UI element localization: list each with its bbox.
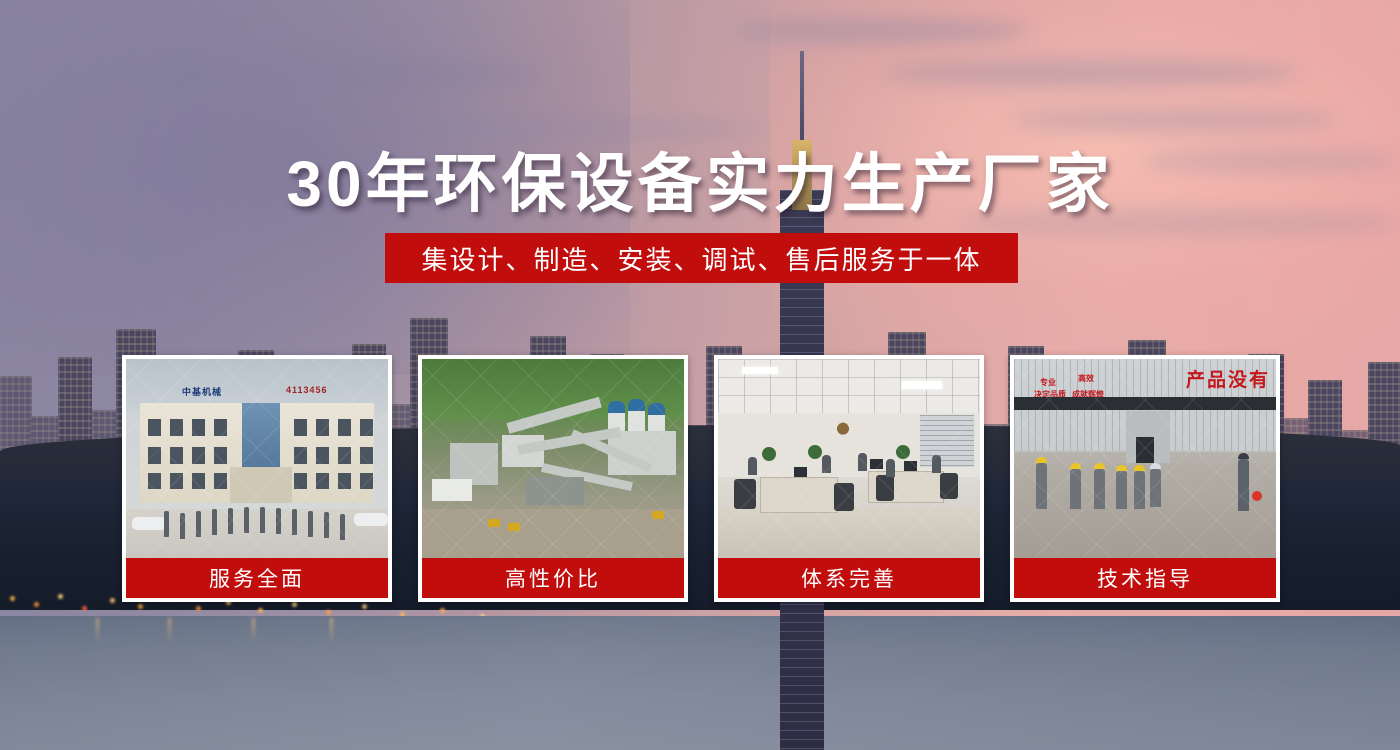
subtitle-banner: 集设计、制造、安装、调试、售后服务于一体 bbox=[385, 233, 1018, 283]
tower-spire bbox=[800, 51, 804, 146]
card-photo-office-building: 中基机械 4113456 bbox=[126, 359, 388, 558]
feature-card[interactable]: 高性价比 bbox=[418, 355, 688, 602]
subtitle-text: 集设计、制造、安装、调试、售后服务于一体 bbox=[421, 240, 981, 277]
light-reflection bbox=[252, 618, 255, 644]
card-photo-worker-training: 产品没有 专业 高效 决定品质 成就辉煌 bbox=[1014, 359, 1276, 558]
watermark-overlay bbox=[718, 359, 980, 558]
watermark-overlay bbox=[1014, 359, 1276, 558]
watermark-overlay bbox=[126, 359, 388, 558]
light-reflection bbox=[330, 618, 333, 644]
cloud bbox=[1010, 108, 1340, 132]
cloud bbox=[730, 18, 1030, 44]
feature-card[interactable]: 产品没有 专业 高效 决定品质 成就辉煌 bbox=[1010, 355, 1280, 602]
card-caption: 服务全面 bbox=[126, 558, 388, 598]
river-reflection-sheen bbox=[0, 616, 1400, 750]
card-photo-office-interior bbox=[718, 359, 980, 558]
feature-card[interactable]: 中基机械 4113456 bbox=[122, 355, 392, 602]
light-reflection bbox=[96, 618, 99, 644]
card-photo-industrial-plant bbox=[422, 359, 684, 558]
card-caption: 技术指导 bbox=[1014, 558, 1276, 598]
card-caption: 体系完善 bbox=[718, 558, 980, 598]
light-reflection bbox=[168, 618, 171, 644]
feature-card-list: 中基机械 4113456 bbox=[122, 355, 1280, 602]
watermark-overlay bbox=[422, 359, 684, 558]
cloud bbox=[120, 60, 540, 88]
cloud bbox=[880, 58, 1300, 88]
card-caption: 高性价比 bbox=[422, 558, 684, 598]
feature-card[interactable]: 体系完善 bbox=[714, 355, 984, 602]
hero-banner: 30年环保设备实力生产厂家 集设计、制造、安装、调试、售后服务于一体 中基机械 … bbox=[0, 0, 1400, 750]
page-title: 30年环保设备实力生产厂家 bbox=[0, 133, 1400, 225]
